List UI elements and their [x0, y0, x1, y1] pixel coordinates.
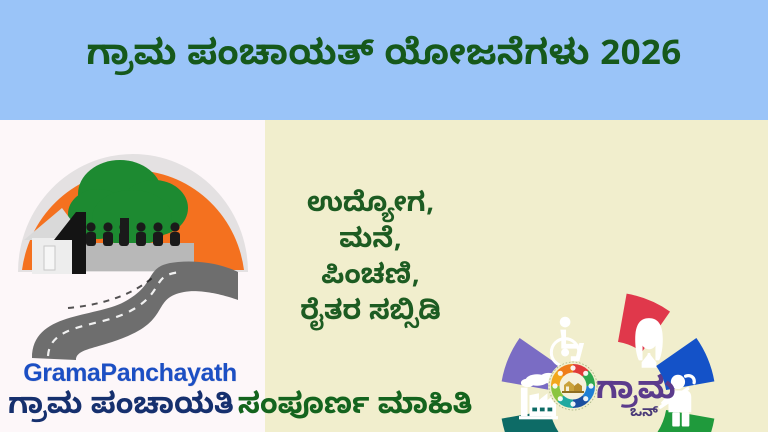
gramaone-center-logo: ಗ್ರಾಮ ಒನ್	[544, 356, 686, 422]
gramaone-logo-svg: ಗ್ರಾಮ ಒನ್	[544, 356, 686, 422]
scheme-line-3: ಪಿಂಚಣಿ,	[268, 262, 473, 298]
brand-latin-text: GramaPanchayath	[4, 359, 256, 388]
caption-part-two: ಸಂಪೂರ್ಣ ಮಾಹಿತಿ	[238, 390, 473, 429]
winding-road	[32, 262, 238, 360]
logo-illustration	[2, 122, 264, 372]
caption-part-one: ಗ್ರಾಮ ಪಂಚಾಯತಿ	[8, 390, 234, 429]
scheme-line-2: ಮನೆ,	[268, 226, 473, 262]
scheme-line-1: ಉದ್ಯೋಗ,	[268, 190, 473, 226]
gramaone-sub-text: ಒನ್	[630, 405, 659, 422]
bottom-caption: ಗ್ರಾಮ ಪಂಚಾಯತಿ ಸಂಪೂರ್ಣ ಮಾಹಿತಿ	[0, 386, 560, 432]
header-banner: ಗ್ರಾಮ ಪಂಚಾಯತ್ ಯೋಜನೆಗಳು 2026	[0, 0, 768, 120]
scheme-text-block: ಉದ್ಯೋಗ, ಮನೆ, ಪಿಂಚಣಿ, ರೈತರ ಸಬ್ಸಿಡಿ	[268, 190, 473, 334]
scheme-line-4: ರೈತರ ಸಬ್ಸಿಡಿ	[268, 298, 473, 334]
page-title: ಗ್ರಾಮ ಪಂಚಾಯತ್ ಯೋಜನೆಗಳು 2026	[86, 41, 681, 80]
poster-canvas: ಗ್ರಾಮ ಪಂಚಾಯತ್ ಯೋಜನೆಗಳು 2026	[0, 0, 768, 432]
